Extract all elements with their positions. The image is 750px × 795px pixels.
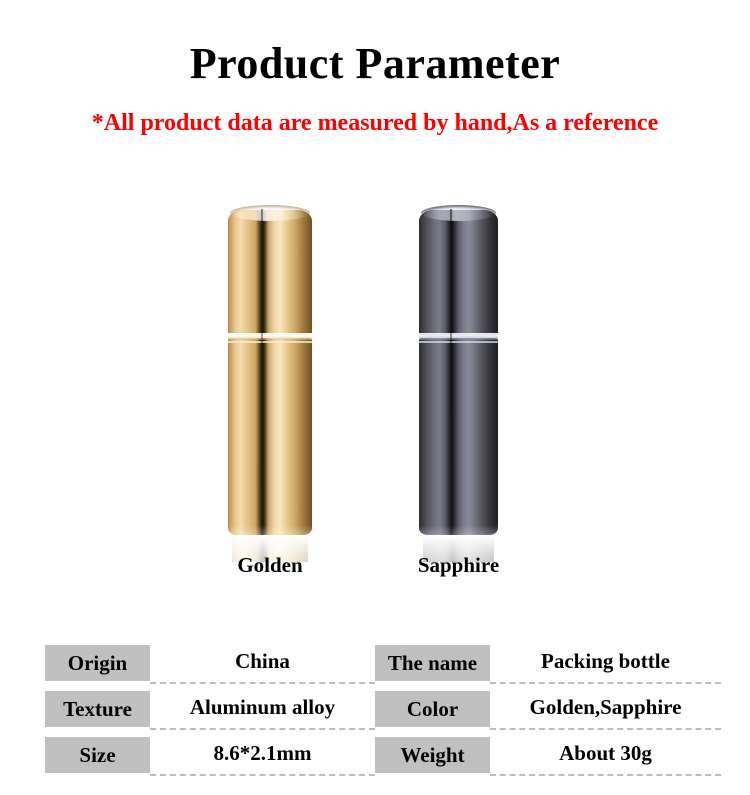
golden-bottle-seam xyxy=(261,209,263,535)
measurement-disclaimer: *All product data are measured by hand,A… xyxy=(0,108,750,138)
spec-label-the-name: The name xyxy=(375,645,490,681)
page-title: Product Parameter xyxy=(0,38,750,90)
spec-value-texture: Aluminum alloy xyxy=(150,686,375,730)
golden-bottle-body xyxy=(228,338,312,535)
specification-table: Origin China The name Packing bottle Tex… xyxy=(45,640,721,778)
golden-bottle-image xyxy=(228,195,312,535)
product-showcase: Golden Sapphire xyxy=(0,195,750,595)
golden-separator-ring xyxy=(228,333,312,340)
spec-value-color: Golden,Sapphire xyxy=(490,686,721,730)
golden-bottle-caption: Golden xyxy=(188,553,352,578)
sapphire-separator-ring xyxy=(419,333,498,340)
sapphire-bottle-cap xyxy=(419,210,498,335)
product-golden: Golden xyxy=(228,195,312,535)
table-row: Size 8.6*2.1mm Weight About 30g xyxy=(45,732,721,778)
sapphire-ring-highlight xyxy=(419,341,498,343)
spec-value-weight: About 30g xyxy=(490,732,721,776)
spec-label-size: Size xyxy=(45,737,150,773)
table-row: Origin China The name Packing bottle xyxy=(45,640,721,686)
sapphire-bottle-body xyxy=(419,338,498,535)
sapphire-bottle-seam xyxy=(450,209,452,535)
spec-label-color: Color xyxy=(375,691,490,727)
golden-cap-rim xyxy=(230,205,310,221)
golden-base-rim xyxy=(228,525,312,535)
sapphire-cap-rim xyxy=(421,205,496,221)
spec-label-origin: Origin xyxy=(45,645,150,681)
spec-label-texture: Texture xyxy=(45,691,150,727)
golden-ring-highlight xyxy=(228,341,312,343)
product-sapphire: Sapphire xyxy=(419,195,498,535)
sapphire-base-rim xyxy=(419,525,498,535)
golden-bottle-cap xyxy=(228,210,312,335)
sapphire-bottle-image xyxy=(419,195,498,535)
spec-value-origin: China xyxy=(150,640,375,684)
spec-label-weight: Weight xyxy=(375,737,490,773)
table-row: Texture Aluminum alloy Color Golden,Sapp… xyxy=(45,686,721,732)
spec-value-the-name: Packing bottle xyxy=(490,640,721,684)
sapphire-bottle-caption: Sapphire xyxy=(379,553,538,578)
spec-value-size: 8.6*2.1mm xyxy=(150,732,375,776)
